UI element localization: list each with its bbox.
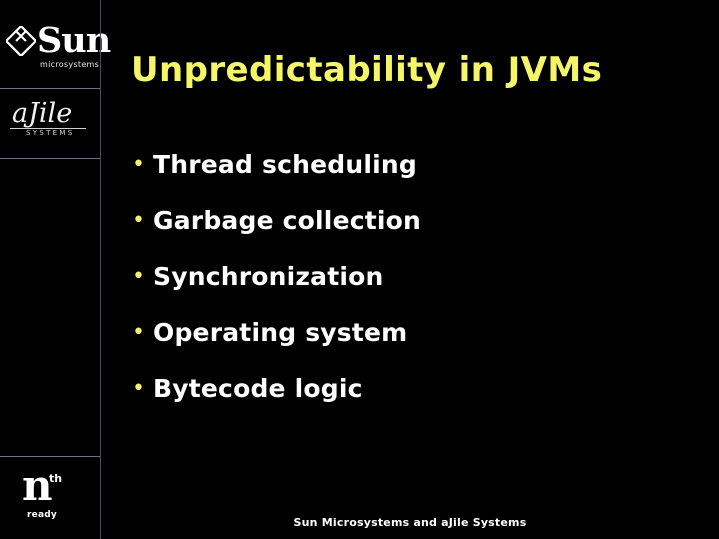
list-item: • Bytecode logic bbox=[129, 372, 689, 428]
nth-letter: n bbox=[22, 462, 53, 510]
slide-footer: Sun Microsystems and aJile Systems bbox=[101, 516, 719, 529]
list-item: • Synchronization bbox=[129, 260, 689, 316]
bullet-label: Thread scheduling bbox=[153, 148, 417, 182]
bullet-label: Synchronization bbox=[153, 260, 384, 294]
nth-tagline: ready bbox=[27, 510, 57, 520]
list-item: • Operating system bbox=[129, 316, 689, 372]
list-item: • Garbage collection bbox=[129, 204, 689, 260]
bullet-label: Operating system bbox=[153, 316, 407, 350]
bullet-marker-icon: • bbox=[129, 204, 153, 238]
slide-content: Unpredictability in JVMs • Thread schedu… bbox=[101, 0, 719, 539]
page-title: Unpredictability in JVMs bbox=[131, 50, 602, 90]
sun-diamond-icon bbox=[6, 26, 36, 56]
sidebar-divider-bottom bbox=[0, 456, 100, 457]
sidebar-divider-middle bbox=[0, 158, 100, 159]
sidebar-divider-top bbox=[0, 88, 100, 89]
bullet-marker-icon: • bbox=[129, 316, 153, 350]
bullet-marker-icon: • bbox=[129, 148, 153, 182]
ajile-wordmark: aJile bbox=[12, 98, 72, 129]
list-item: • Thread scheduling bbox=[129, 148, 689, 204]
bullet-marker-icon: • bbox=[129, 372, 153, 406]
sidebar: Sun microsystems aJile SYSTEMS n th read… bbox=[0, 0, 100, 539]
nth-superscript: th bbox=[49, 472, 62, 485]
nth-ready-logo: n th ready bbox=[22, 468, 92, 524]
bullet-label: Bytecode logic bbox=[153, 372, 363, 406]
bullet-list: • Thread scheduling • Garbage collection… bbox=[129, 148, 689, 428]
sun-tagline: microsystems bbox=[40, 60, 99, 69]
bullet-label: Garbage collection bbox=[153, 204, 421, 238]
ajile-logo: aJile SYSTEMS bbox=[8, 98, 96, 144]
ajile-tagline: SYSTEMS bbox=[26, 129, 74, 137]
bullet-marker-icon: • bbox=[129, 260, 153, 294]
slide-root: Sun microsystems aJile SYSTEMS n th read… bbox=[0, 0, 719, 539]
sun-logo: Sun microsystems bbox=[4, 22, 100, 74]
